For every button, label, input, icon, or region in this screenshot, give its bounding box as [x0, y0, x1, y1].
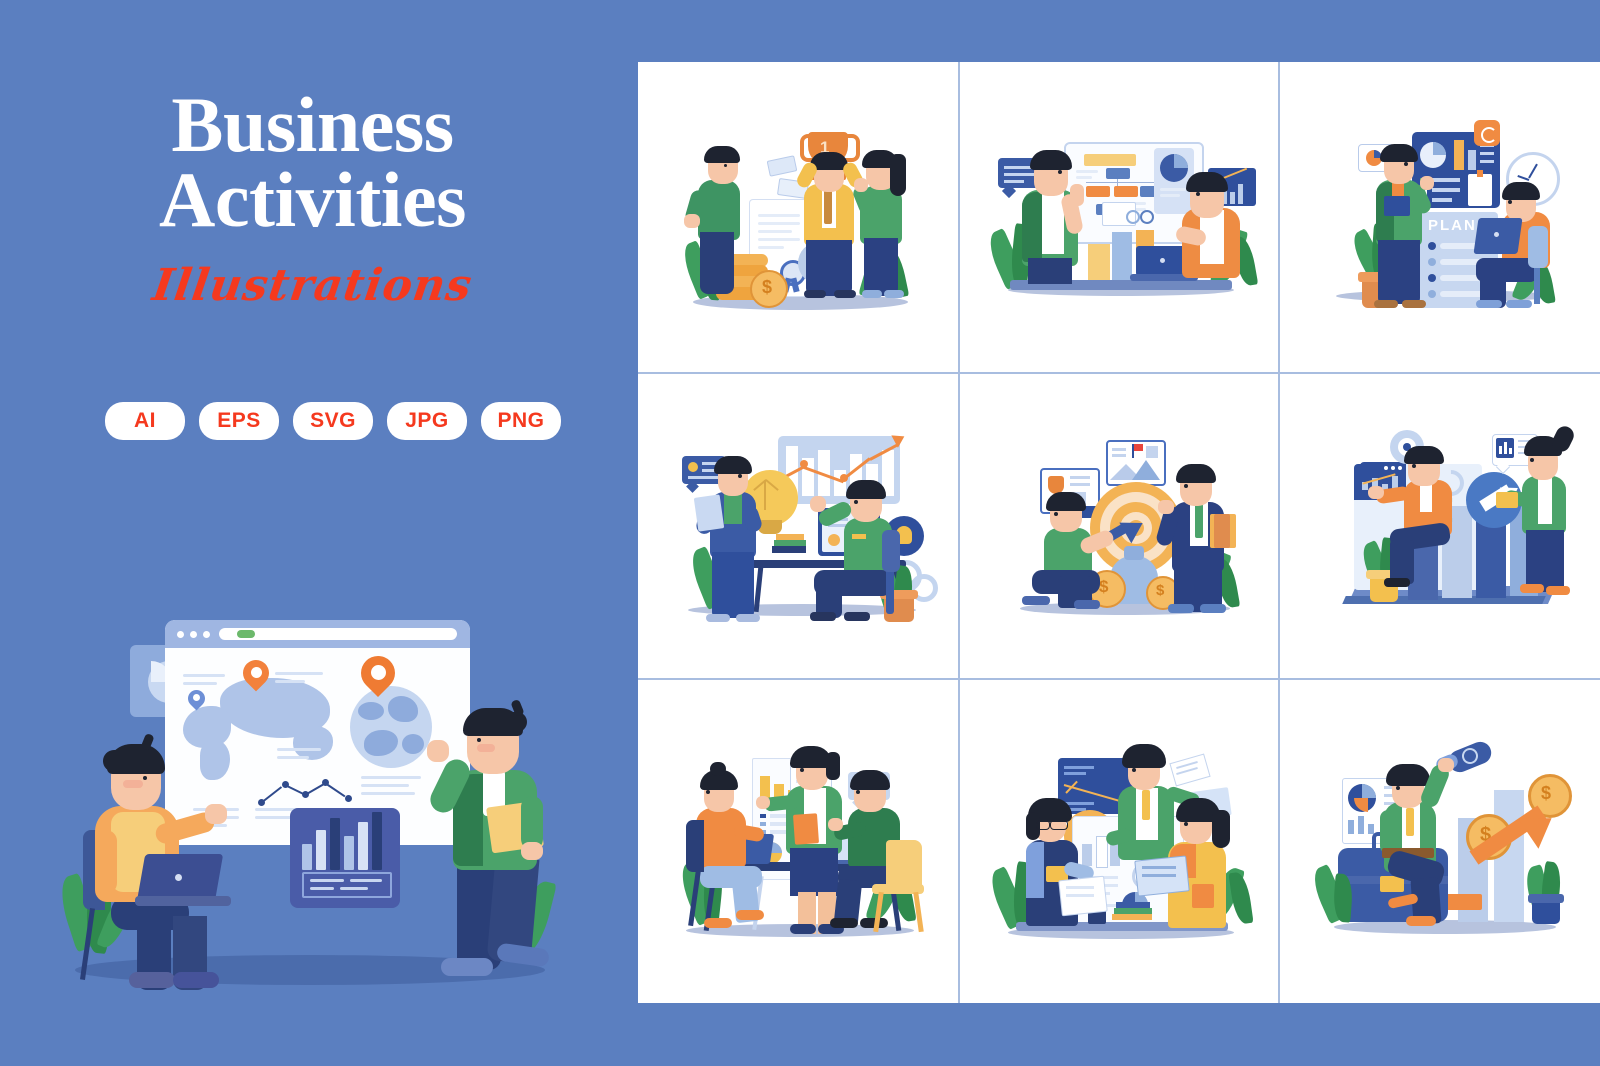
grid-cell-business-data-analysis[interactable]: Max	[960, 680, 1278, 1003]
format-badge-ai[interactable]: AI	[105, 402, 185, 440]
format-badge-row: AI EPS SVG JPG PNG	[105, 402, 565, 440]
title-block: Business Activities Illustrations	[0, 88, 625, 311]
format-badge-eps[interactable]: EPS	[199, 402, 279, 440]
bar-chart-legend-box	[302, 872, 392, 898]
page-title-line-2: Activities	[0, 163, 625, 238]
format-badge-svg[interactable]: SVG	[293, 402, 373, 440]
location-pin-blue	[188, 690, 205, 712]
url-progress-indicator	[237, 630, 255, 638]
seated-man-with-laptop	[77, 720, 277, 990]
illustration-grid: $ 1	[638, 62, 1600, 1003]
hero-illustration	[35, 600, 595, 1030]
map-continent-4	[293, 726, 333, 760]
grid-cell-business-planning-checklist[interactable]: PLAN	[1280, 62, 1600, 372]
standing-man-with-folder	[425, 700, 595, 990]
grid-cell-business-idea-innovation[interactable]	[638, 374, 958, 678]
window-dot-icon-2	[190, 631, 197, 638]
grid-cell-business-growth-analytics[interactable]	[1280, 374, 1600, 678]
page-title-line-1: Business	[0, 88, 625, 163]
page-subtitle: Illustrations	[0, 260, 629, 311]
location-pin-orange-small	[243, 660, 269, 694]
window-dot-icon-3	[203, 631, 210, 638]
browser-titlebar	[165, 620, 470, 648]
window-dot-icon-1	[177, 631, 184, 638]
left-panel: Business Activities Illustrations AI EPS…	[0, 0, 625, 1066]
grid-cell-business-vision-growth[interactable]: $ $	[1280, 680, 1600, 1003]
grid-cell-business-team-meeting[interactable]	[638, 680, 958, 1003]
grid-cell-business-presentation-flowchart[interactable]	[960, 62, 1278, 372]
format-badge-png[interactable]: PNG	[481, 402, 561, 440]
format-badge-jpg[interactable]: JPG	[387, 402, 467, 440]
location-pin-orange-large	[361, 656, 395, 700]
grid-cell-business-target-goal[interactable]: $ $	[960, 374, 1278, 678]
bar-chart-card	[290, 808, 400, 908]
grid-cell-business-achievement-award[interactable]: $ 1	[638, 62, 958, 372]
